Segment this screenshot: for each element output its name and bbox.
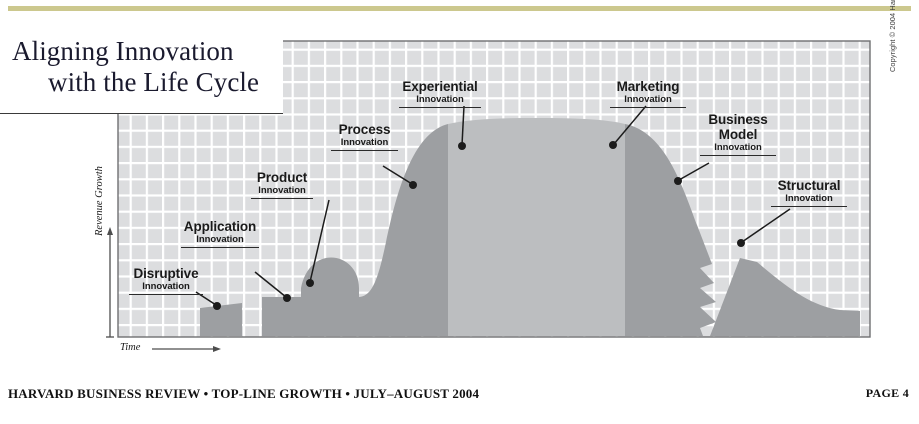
title-line-1: Aligning Innovation — [12, 36, 234, 66]
callout-marketing-subtitle: Innovation — [610, 94, 686, 105]
callout-product: Product Innovation — [251, 170, 313, 199]
callout-business-model-subtitle: Innovation — [700, 142, 776, 153]
callout-disruptive: Disruptive Innovation — [129, 266, 203, 295]
callout-disruptive-rule — [129, 294, 203, 295]
title-line-2: with the Life Cycle — [12, 67, 273, 98]
innovation-life-cycle-figure: Aligning Innovationwith the Life Cycle R… — [0, 0, 919, 424]
footer-publication-line: HARVARD BUSINESS REVIEW • TOP-LINE GROWT… — [8, 386, 479, 402]
callout-application: Application Innovation — [181, 219, 259, 248]
revenue-curve-light — [448, 118, 625, 336]
callout-experiential: Experiential Innovation — [399, 79, 481, 108]
copyright-notice: Copyright © 2004 Harvard Business School… — [888, 0, 897, 72]
callout-marketing: Marketing Innovation — [610, 79, 686, 108]
callout-application-title: Application — [181, 219, 259, 234]
callout-marketing-title: Marketing — [610, 79, 686, 94]
figure-title-block: Aligning Innovationwith the Life Cycle — [0, 30, 283, 114]
callout-structural-subtitle: Innovation — [771, 193, 847, 204]
callout-process: Process Innovation — [331, 122, 398, 151]
callout-business-model-rule — [700, 155, 776, 156]
callout-product-subtitle: Innovation — [251, 185, 313, 196]
callout-structural-rule — [771, 206, 847, 207]
callout-experiential-title: Experiential — [399, 79, 481, 94]
callout-disruptive-title: Disruptive — [129, 266, 203, 281]
footer-page-number: PAGE 4 — [866, 386, 909, 401]
callout-disruptive-subtitle: Innovation — [129, 281, 203, 292]
callout-process-subtitle: Innovation — [331, 137, 398, 148]
x-axis-label: Time — [120, 342, 140, 353]
callout-application-rule — [181, 247, 259, 248]
callout-application-subtitle: Innovation — [181, 234, 259, 245]
callout-structural-title: Structural — [771, 178, 847, 193]
callout-experiential-rule — [399, 107, 481, 108]
y-axis-label: Revenue Growth — [94, 166, 105, 236]
callout-business-model-title-line2: Model — [700, 128, 776, 143]
callout-business-model-title-line1: Business — [700, 113, 776, 128]
callout-marketing-rule — [610, 107, 686, 108]
callout-process-rule — [331, 150, 398, 151]
callout-business-model: Business Model Innovation — [700, 113, 776, 156]
callout-process-title: Process — [331, 122, 398, 137]
callout-experiential-subtitle: Innovation — [399, 94, 481, 105]
callout-product-rule — [251, 198, 313, 199]
page-title: Aligning Innovationwith the Life Cycle — [0, 30, 283, 98]
callout-structural: Structural Innovation — [771, 178, 847, 207]
callout-product-title: Product — [251, 170, 313, 185]
